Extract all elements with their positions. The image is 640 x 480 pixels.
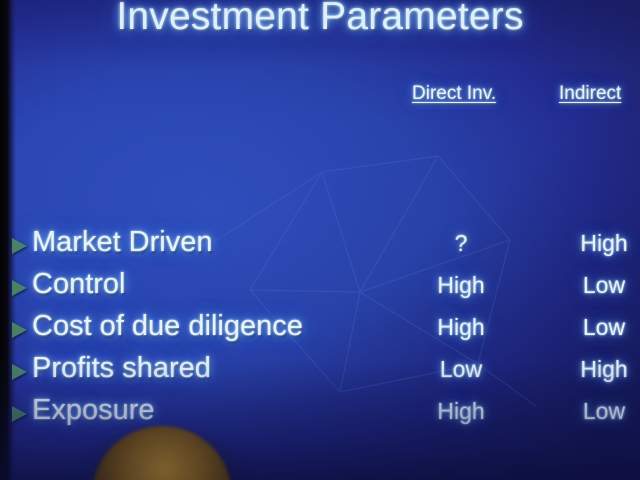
table-row: Control High Low bbox=[0, 270, 640, 312]
cell-direct-inv: High bbox=[406, 314, 516, 341]
column-header-indirect: Indirect bbox=[559, 83, 621, 105]
slide-title: Investment Parameters bbox=[0, 0, 640, 39]
row-label: Market Driven bbox=[32, 226, 213, 259]
cell-indirect: Low bbox=[549, 314, 640, 341]
triangle-right-icon bbox=[12, 322, 27, 338]
cell-direct-inv: ? bbox=[406, 230, 516, 257]
table-row: Market Driven ? High bbox=[0, 228, 640, 270]
row-label: Cost of due diligence bbox=[32, 310, 303, 343]
triangle-right-icon bbox=[12, 280, 27, 296]
cell-indirect: Low bbox=[549, 272, 640, 299]
row-label: Control bbox=[32, 268, 126, 301]
table-row: Cost of due diligence High Low bbox=[0, 312, 640, 354]
cell-indirect: High bbox=[549, 230, 640, 257]
column-header-row: Direct Inv. Indirect bbox=[0, 83, 640, 109]
cell-direct-inv: High bbox=[406, 272, 516, 299]
column-header-direct-inv: Direct Inv. bbox=[412, 83, 496, 105]
triangle-right-icon bbox=[12, 238, 27, 254]
presentation-slide: Investment Parameters Direct Inv. Indire… bbox=[0, 0, 640, 480]
